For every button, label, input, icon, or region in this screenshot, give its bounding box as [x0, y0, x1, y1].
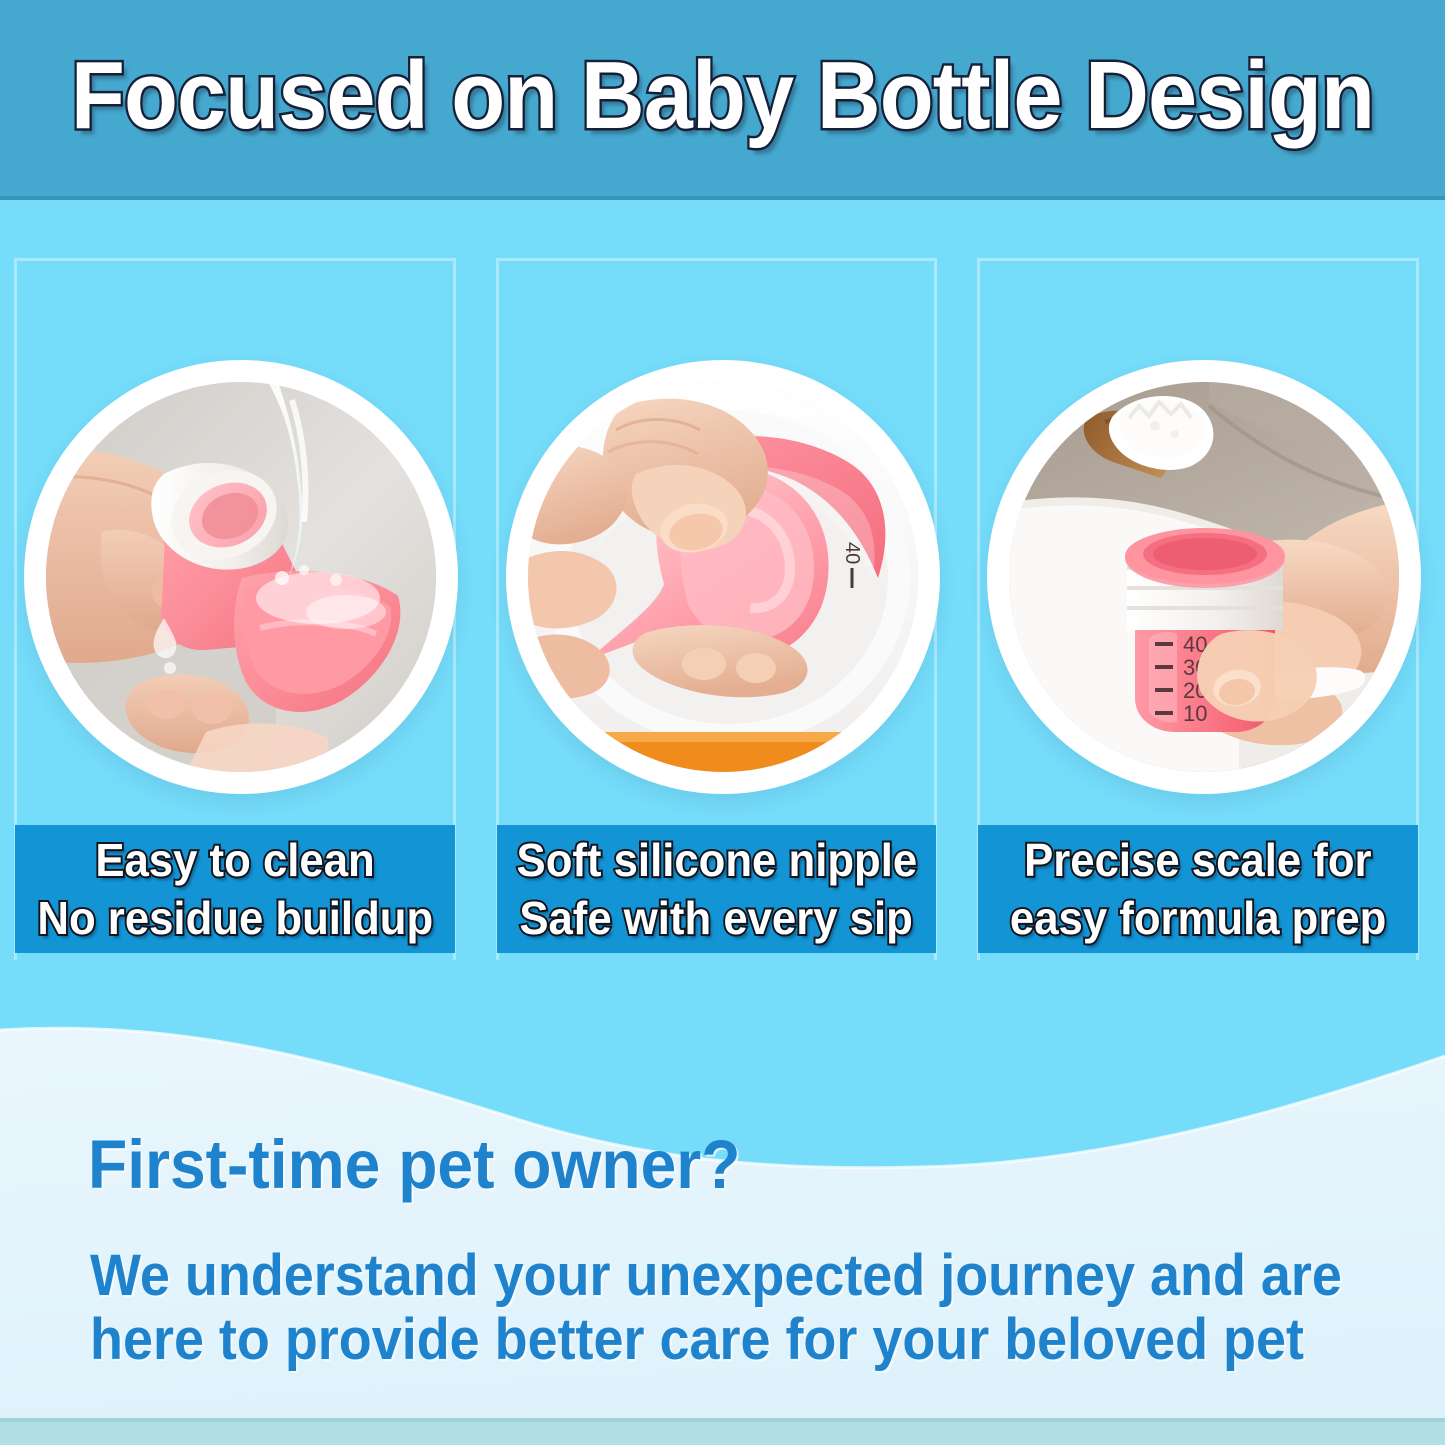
bottom-body-line: here to provide better care for your bel…	[90, 1308, 1342, 1372]
page-title: Focused on Baby Bottle Design	[58, 46, 1387, 146]
photo-easy-to-clean	[46, 382, 436, 772]
photo-circle-soft-silicone-nipple: 40	[506, 360, 940, 794]
caption-band-easy-to-clean: Easy to clean No residue buildup	[15, 825, 455, 953]
nipple-squeeze-illustration: 40	[528, 382, 918, 772]
caption-band-precise-scale: Precise scale for easy formula prep	[978, 825, 1418, 953]
bottom-body-line: We understand your unexpected journey an…	[90, 1244, 1342, 1308]
bottom-edge-strip	[0, 1418, 1445, 1445]
photo-precise-scale: 40 30 20 10	[1009, 382, 1399, 772]
photo-soft-silicone-nipple: 40	[528, 382, 918, 772]
photo-circle-precise-scale: 40 30 20 10	[987, 360, 1421, 794]
scale-label-10: 10	[1183, 701, 1207, 726]
caption-line: Precise scale for	[1024, 831, 1371, 889]
scale-label-40: 40	[841, 542, 863, 564]
bottle-washing-illustration	[46, 382, 436, 772]
feature-card-soft-silicone-nipple: 40	[482, 200, 964, 990]
caption-line: easy formula prep	[1010, 889, 1386, 947]
bottom-heading: First-time pet owner?	[88, 1128, 740, 1202]
product-infographic-poster: Focused on Baby Bottle Design	[0, 0, 1445, 1445]
caption-line: Safe with every sip	[520, 889, 913, 947]
feature-card-easy-to-clean: Easy to clean No residue buildup	[0, 200, 482, 990]
formula-measuring-illustration: 40 30 20 10	[1009, 382, 1399, 772]
feature-card-precise-scale: 40 30 20 10	[963, 200, 1445, 990]
caption-band-soft-silicone-nipple: Soft silicone nipple Safe with every sip	[497, 825, 937, 953]
caption-line: No residue buildup	[37, 889, 433, 947]
photo-circle-easy-to-clean	[24, 360, 458, 794]
caption-line: Soft silicone nipple	[516, 831, 917, 889]
feature-card-row: Easy to clean No residue buildup	[0, 200, 1445, 990]
bottom-body: We understand your unexpected journey an…	[90, 1244, 1342, 1372]
caption-line: Easy to clean	[95, 831, 374, 889]
